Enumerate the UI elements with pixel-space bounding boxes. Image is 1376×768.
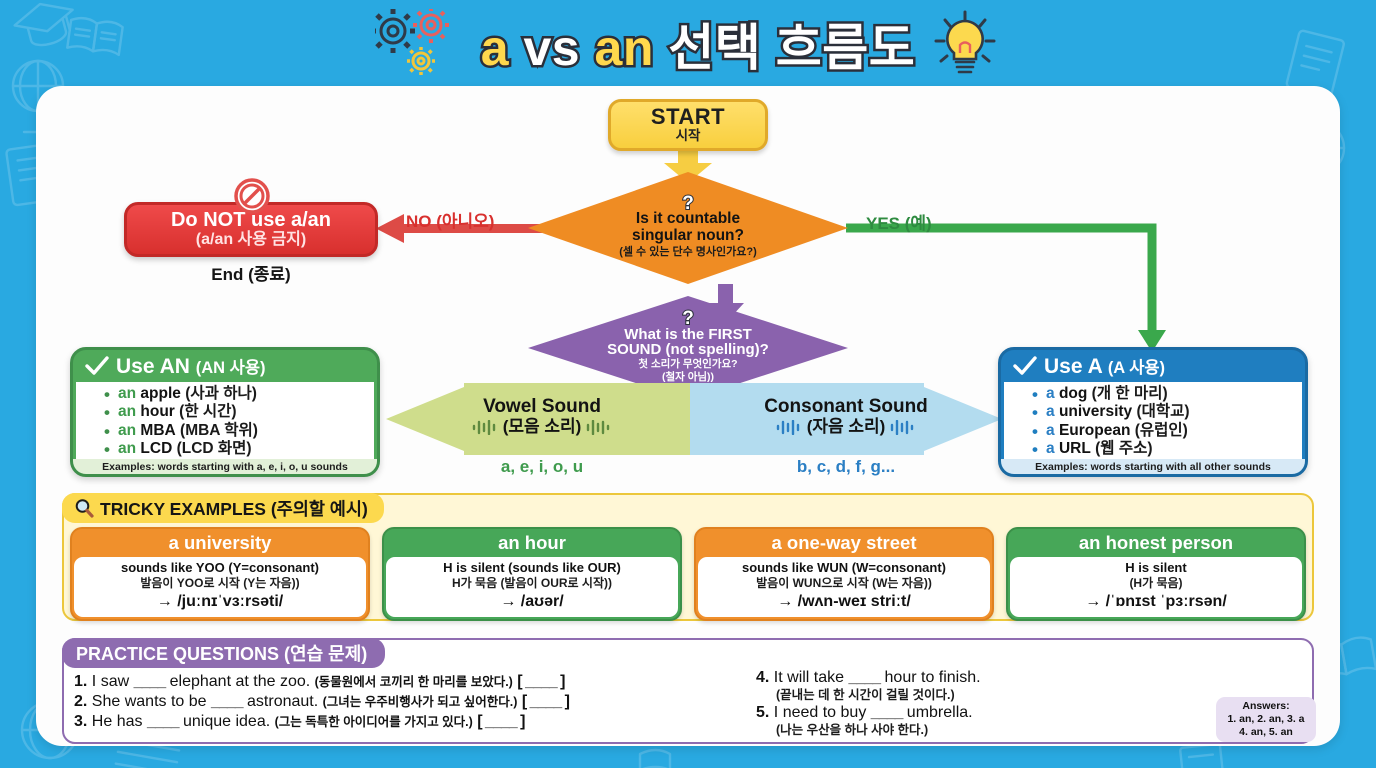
start-label-ko: 시작 xyxy=(676,129,701,144)
sound-wave-icon-4 xyxy=(889,420,917,435)
list-item: an LCD (LCD 화면) xyxy=(76,440,374,458)
use-a-box[interactable]: Use A (A 사용) a dog (개 한 마리) a university… xyxy=(998,347,1308,477)
edge-label-yes: YES (예) xyxy=(866,209,932,234)
answers-box: Answers: 1. an, 2. an, 3. a 4. an, 5. an xyxy=(1216,697,1316,742)
tricky-card-body: sounds like WUN (W=consonant) 발음이 WUN으로 … xyxy=(698,557,990,617)
question-mark-icon-2: ? xyxy=(607,312,769,325)
tricky-card-body: sounds like YOO (Y=consonant) 발음이 YOO로 시… xyxy=(74,557,366,617)
consonant-letters: b, c, d, f, g... xyxy=(690,457,1002,477)
practice-right-column: 4. It will take ____ hour to finish. (끝내… xyxy=(756,668,1226,738)
practice-question-5: 5. I need to buy ____ umbrella. xyxy=(756,703,1226,723)
consonant-label-en: Consonant Sound xyxy=(690,397,1002,417)
title-word-an: an xyxy=(595,20,654,76)
tricky-card-head: an honest person xyxy=(1008,529,1304,557)
use-an-footer: Examples: words starting with a, e, i, o… xyxy=(73,459,377,476)
list-item: a dog (개 한 마리) xyxy=(1004,385,1302,403)
tricky-examples-title: TRICKY EXAMPLES (주의할 예시) xyxy=(62,493,384,523)
edge-label-no: NO (아니오) xyxy=(406,207,494,232)
decision-countable-singular[interactable]: ? Is it countable singular noun? (셀 수 있는… xyxy=(528,172,848,284)
q1-line1: Is it countable xyxy=(619,211,757,228)
list-item: an hour (한 시간) xyxy=(76,403,374,421)
q2-line2: SOUND (not spelling)? xyxy=(607,342,769,358)
vowel-label-ko-row: (모음 소리) xyxy=(386,417,698,437)
vowel-label-en: Vowel Sound xyxy=(386,397,698,417)
tricky-card-a-one-way-street[interactable]: a one-way street sounds like WUN (W=cons… xyxy=(694,527,994,621)
sound-wave-icon xyxy=(471,420,499,435)
use-a-list: a dog (개 한 마리) a university (대학교) a Euro… xyxy=(1004,382,1302,459)
answers-line-1: 1. an, 2. an, 3. a xyxy=(1216,713,1316,726)
answers-title: Answers: xyxy=(1216,700,1316,713)
page-title-bar: a vs an 선택 흐름도 xyxy=(0,2,1376,86)
magnifier-icon xyxy=(74,498,94,518)
use-a-title-ko: (A 사용) xyxy=(1108,359,1165,377)
title-word-vs: vs xyxy=(524,20,581,76)
use-a-title-en: Use A xyxy=(1044,355,1102,378)
consonant-label-ko-row: (자음 소리) xyxy=(690,417,1002,437)
tricky-card-body: H is silent (H가 묵음) → /ˈɒnɪst ˈpɜːrsən/ xyxy=(1010,557,1302,617)
q1-line2: singular noun? xyxy=(619,228,757,245)
infographic-canvas: a vs an 선택 흐름도 xyxy=(0,0,1376,768)
use-an-title-ko: (AN 사용) xyxy=(196,359,266,377)
start-node[interactable]: START 시작 xyxy=(608,99,768,151)
practice-left-column: 1. I saw ____ elephant at the zoo. (동물원에… xyxy=(74,672,734,732)
start-label-en: START xyxy=(651,106,725,128)
q2-line1: What is the FIRST xyxy=(607,327,769,343)
list-item: an apple (사과 하나) xyxy=(76,385,374,403)
answers-line-2: 4. an, 5. an xyxy=(1216,726,1316,739)
title-word-a: a xyxy=(481,20,509,76)
question-mark-icon: ? xyxy=(619,197,757,210)
tricky-card-an-hour[interactable]: an hour H is silent (sounds like OUR) H가… xyxy=(382,527,682,621)
vowel-sound-arrow[interactable]: Vowel Sound (모음 소리) a, e, i, o, u xyxy=(386,383,698,455)
use-an-header: Use AN (AN 사용) xyxy=(73,350,377,382)
q1-korean: (셀 수 있는 단수 명사인가요?) xyxy=(619,246,757,259)
use-an-list: an apple (사과 하나) an hour (한 시간) an MBA (… xyxy=(76,382,374,459)
check-icon xyxy=(1013,356,1037,376)
prohibition-icon xyxy=(232,176,272,216)
lightbulb-icon xyxy=(929,9,1001,79)
list-item: a URL (웹 주소) xyxy=(1004,440,1302,458)
practice-question-4: 4. It will take ____ hour to finish. xyxy=(756,668,1226,688)
list-item: a European (유럽인) xyxy=(1004,422,1302,440)
tricky-card-head: a university xyxy=(72,529,368,557)
sound-wave-icon-2 xyxy=(585,420,613,435)
q2-korean-2: (철자 아님)) xyxy=(607,372,769,384)
practice-questions-title: PRACTICE QUESTIONS (연습 문제) xyxy=(62,638,385,668)
vowel-letters: a, e, i, o, u xyxy=(386,457,698,477)
tricky-title-text: TRICKY EXAMPLES (주의할 예시) xyxy=(100,496,368,521)
use-an-box[interactable]: Use AN (AN 사용) an apple (사과 하나) an hour … xyxy=(70,347,380,477)
practice-question-2: 2. She wants to be ____ astronaut. (그녀는 … xyxy=(74,692,734,712)
tricky-card-an-honest-person[interactable]: an honest person H is silent (H가 묵음) → /… xyxy=(1006,527,1306,621)
tricky-card-a-university[interactable]: a university sounds like YOO (Y=consonan… xyxy=(70,527,370,621)
end-label: End (종료) xyxy=(124,260,378,285)
list-item: a university (대학교) xyxy=(1004,403,1302,421)
check-icon xyxy=(85,356,109,376)
vowel-label-ko: (모음 소리) xyxy=(503,417,582,436)
practice-question-3: 3. He has ____ unique idea. (그는 독특한 아이디어… xyxy=(74,712,734,732)
sound-wave-icon-3 xyxy=(775,420,803,435)
page-title: a vs an 선택 흐름도 xyxy=(481,8,915,80)
practice-question-1: 1. I saw ____ elephant at the zoo. (동물원에… xyxy=(74,672,734,692)
tricky-card-head: a one-way street xyxy=(696,529,992,557)
practice-question-4-korean: (끝내는 데 한 시간이 걸릴 것이다.) xyxy=(756,688,1226,703)
practice-question-5-korean: (나는 우산을 하나 사야 한다.) xyxy=(756,723,1226,738)
use-a-footer: Examples: words starting with all other … xyxy=(1001,459,1305,476)
use-a-header: Use A (A 사용) xyxy=(1001,350,1305,382)
use-an-title-en: Use AN xyxy=(116,355,190,378)
do-not-use-label-ko: (a/an 사용 금지) xyxy=(196,231,306,249)
consonant-sound-arrow[interactable]: Consonant Sound (자음 소리) b, c, d, f, g... xyxy=(690,383,1002,455)
gears-icon xyxy=(375,9,467,79)
consonant-label-ko: (자음 소리) xyxy=(807,417,886,436)
tricky-card-body: H is silent (sounds like OUR) H가 묵음 (발음이… xyxy=(386,557,678,617)
tricky-card-head: an hour xyxy=(384,529,680,557)
title-korean: 선택 흐름도 xyxy=(668,20,915,76)
list-item: an MBA (MBA 학위) xyxy=(76,422,374,440)
q2-korean-1: 첫 소리가 무엇인가요? xyxy=(607,359,769,371)
tricky-cards-row: a university sounds like YOO (Y=consonan… xyxy=(70,527,1306,621)
